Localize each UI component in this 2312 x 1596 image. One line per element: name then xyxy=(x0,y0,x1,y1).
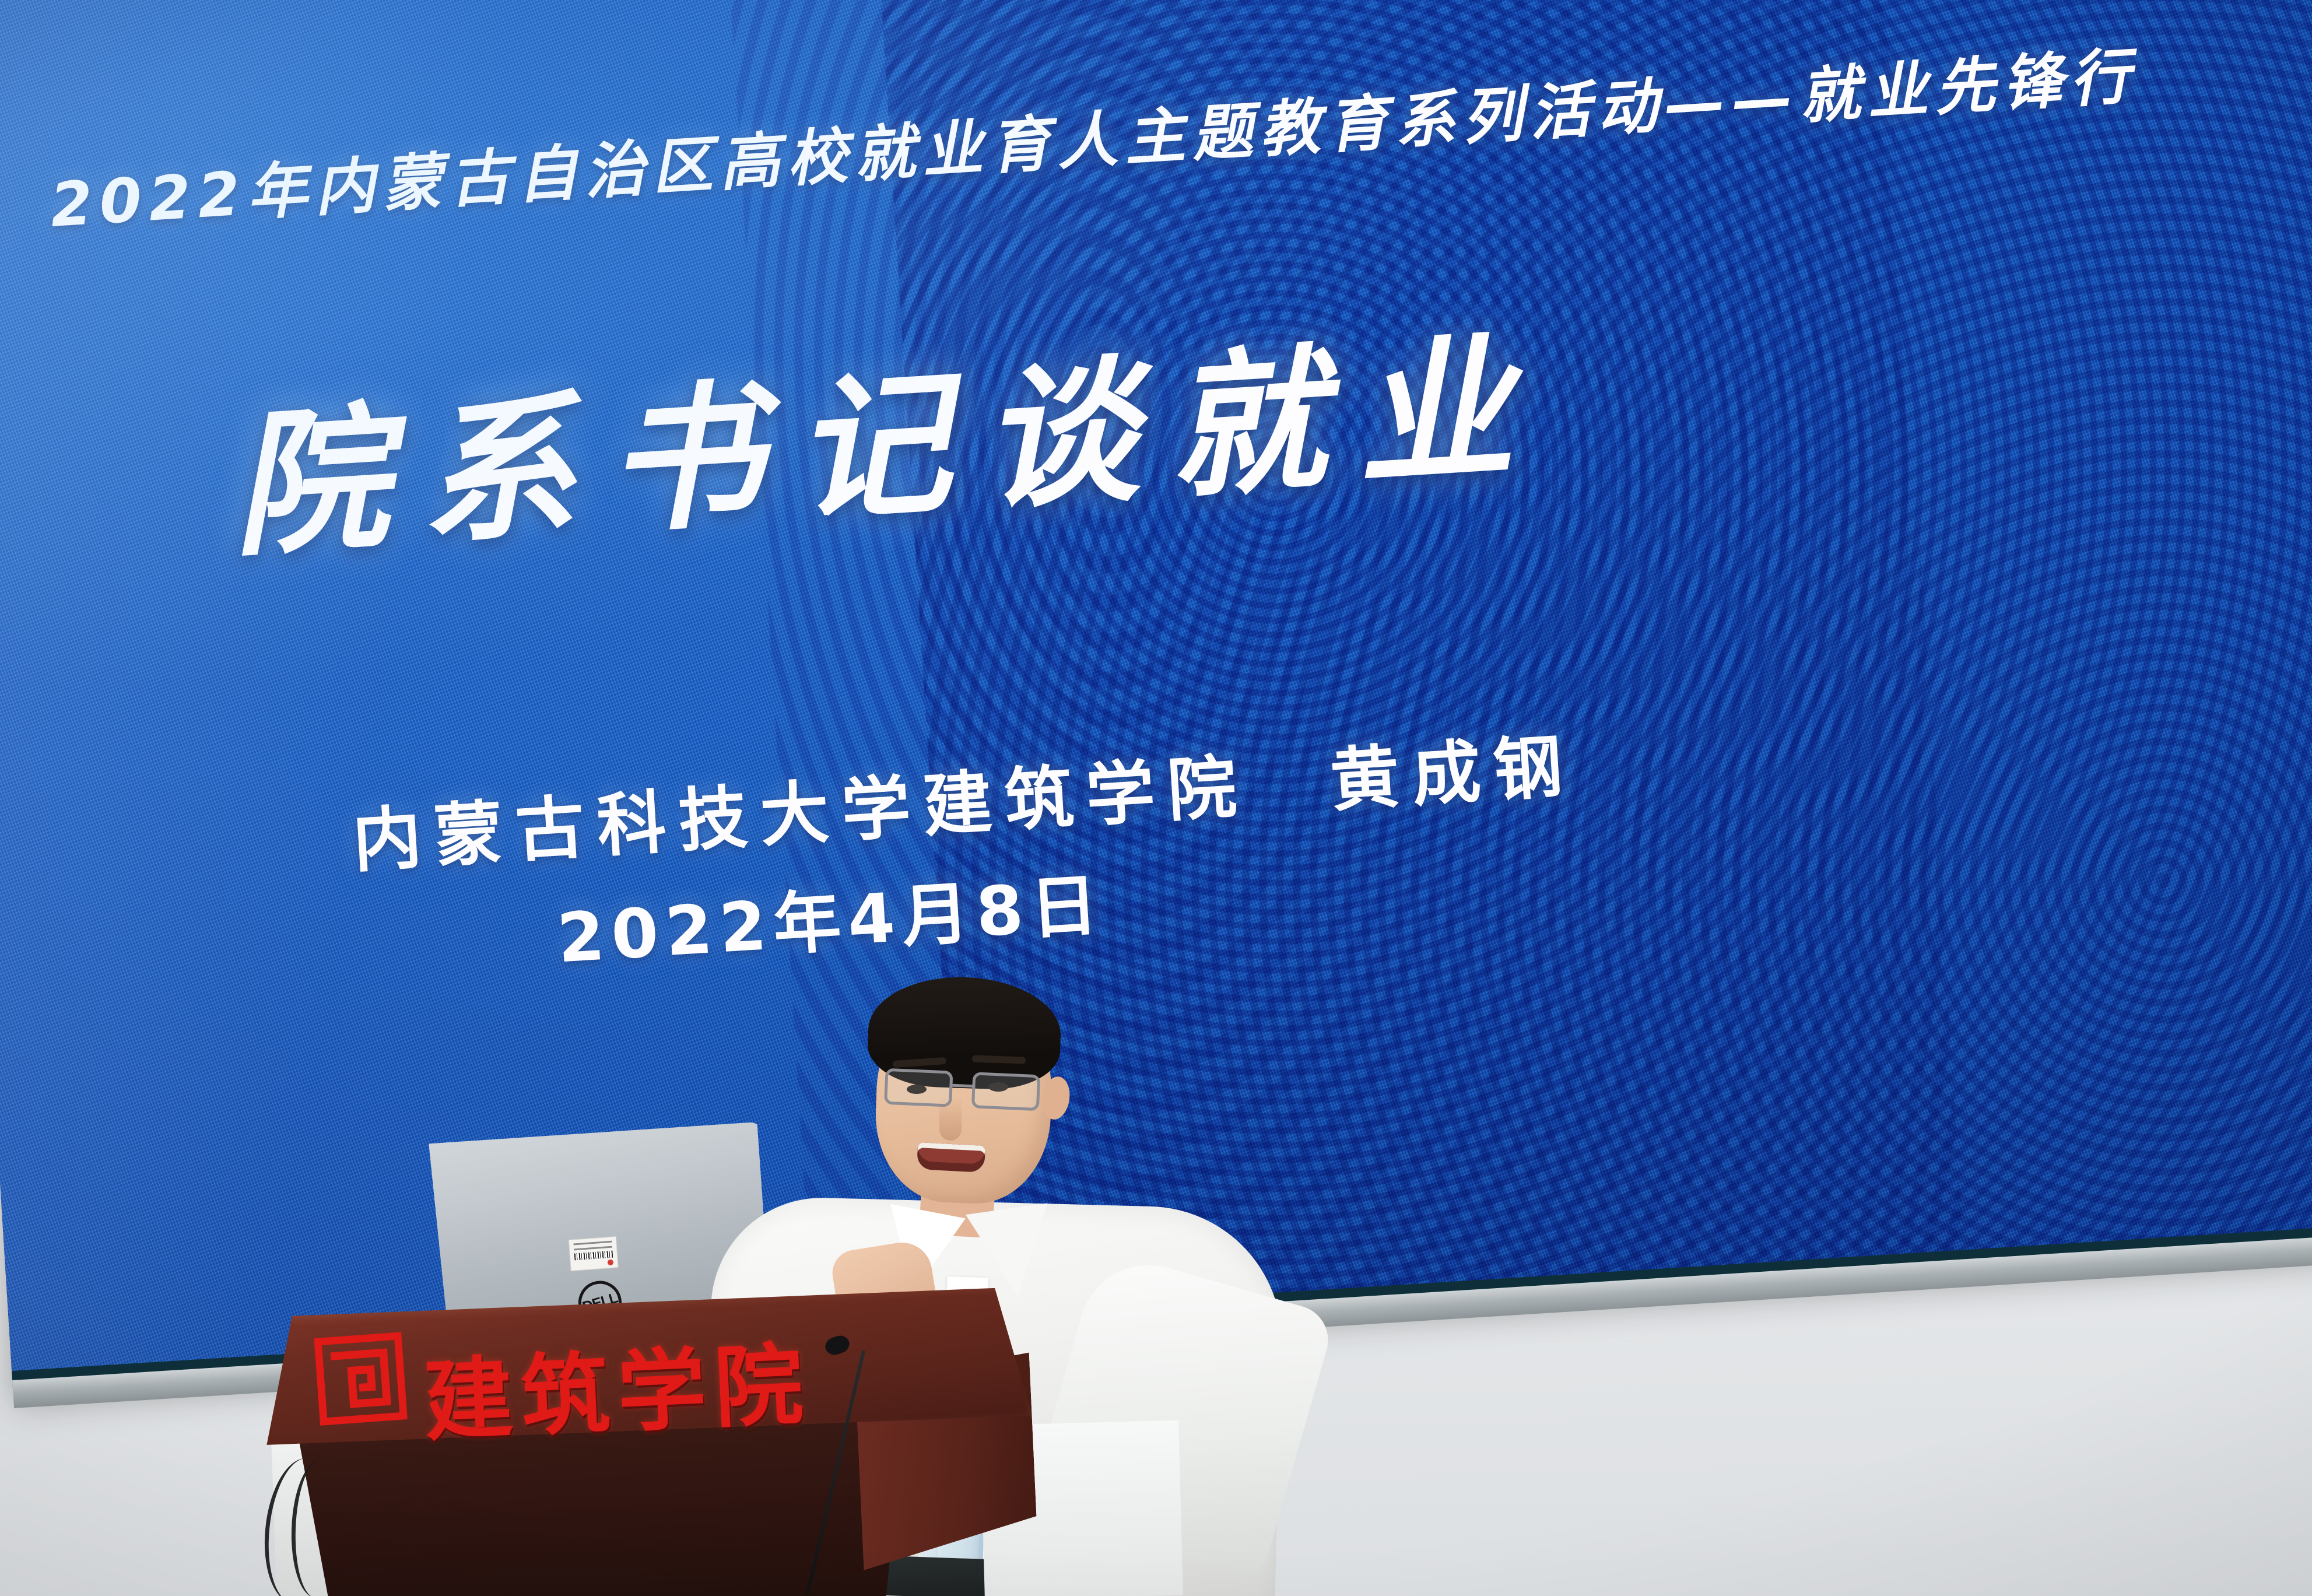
lectern-label: 建筑学院 xyxy=(421,1313,813,1458)
slide-banner-line: 2022年内蒙古自治区高校就业育人主题教育系列活动——就业先锋行 xyxy=(47,26,2139,244)
photo-scene: 2022年内蒙古自治区高校就业育人主题教育系列活动——就业先锋行 院系书记谈就业… xyxy=(0,0,2312,1596)
nose xyxy=(939,1097,962,1141)
eyeglasses xyxy=(884,1068,1055,1117)
asset-tag-sticker xyxy=(569,1236,619,1271)
lens-right xyxy=(971,1072,1041,1111)
lectern: 建筑学院 xyxy=(245,1283,1040,1596)
glasses-bridge xyxy=(952,1084,974,1088)
spiral-seal-logo xyxy=(314,1332,407,1425)
slide-main-title: 院系书记谈就业 xyxy=(224,280,1550,587)
mouth xyxy=(917,1142,985,1173)
slide-date: 2022年4月8日 xyxy=(554,850,1107,982)
